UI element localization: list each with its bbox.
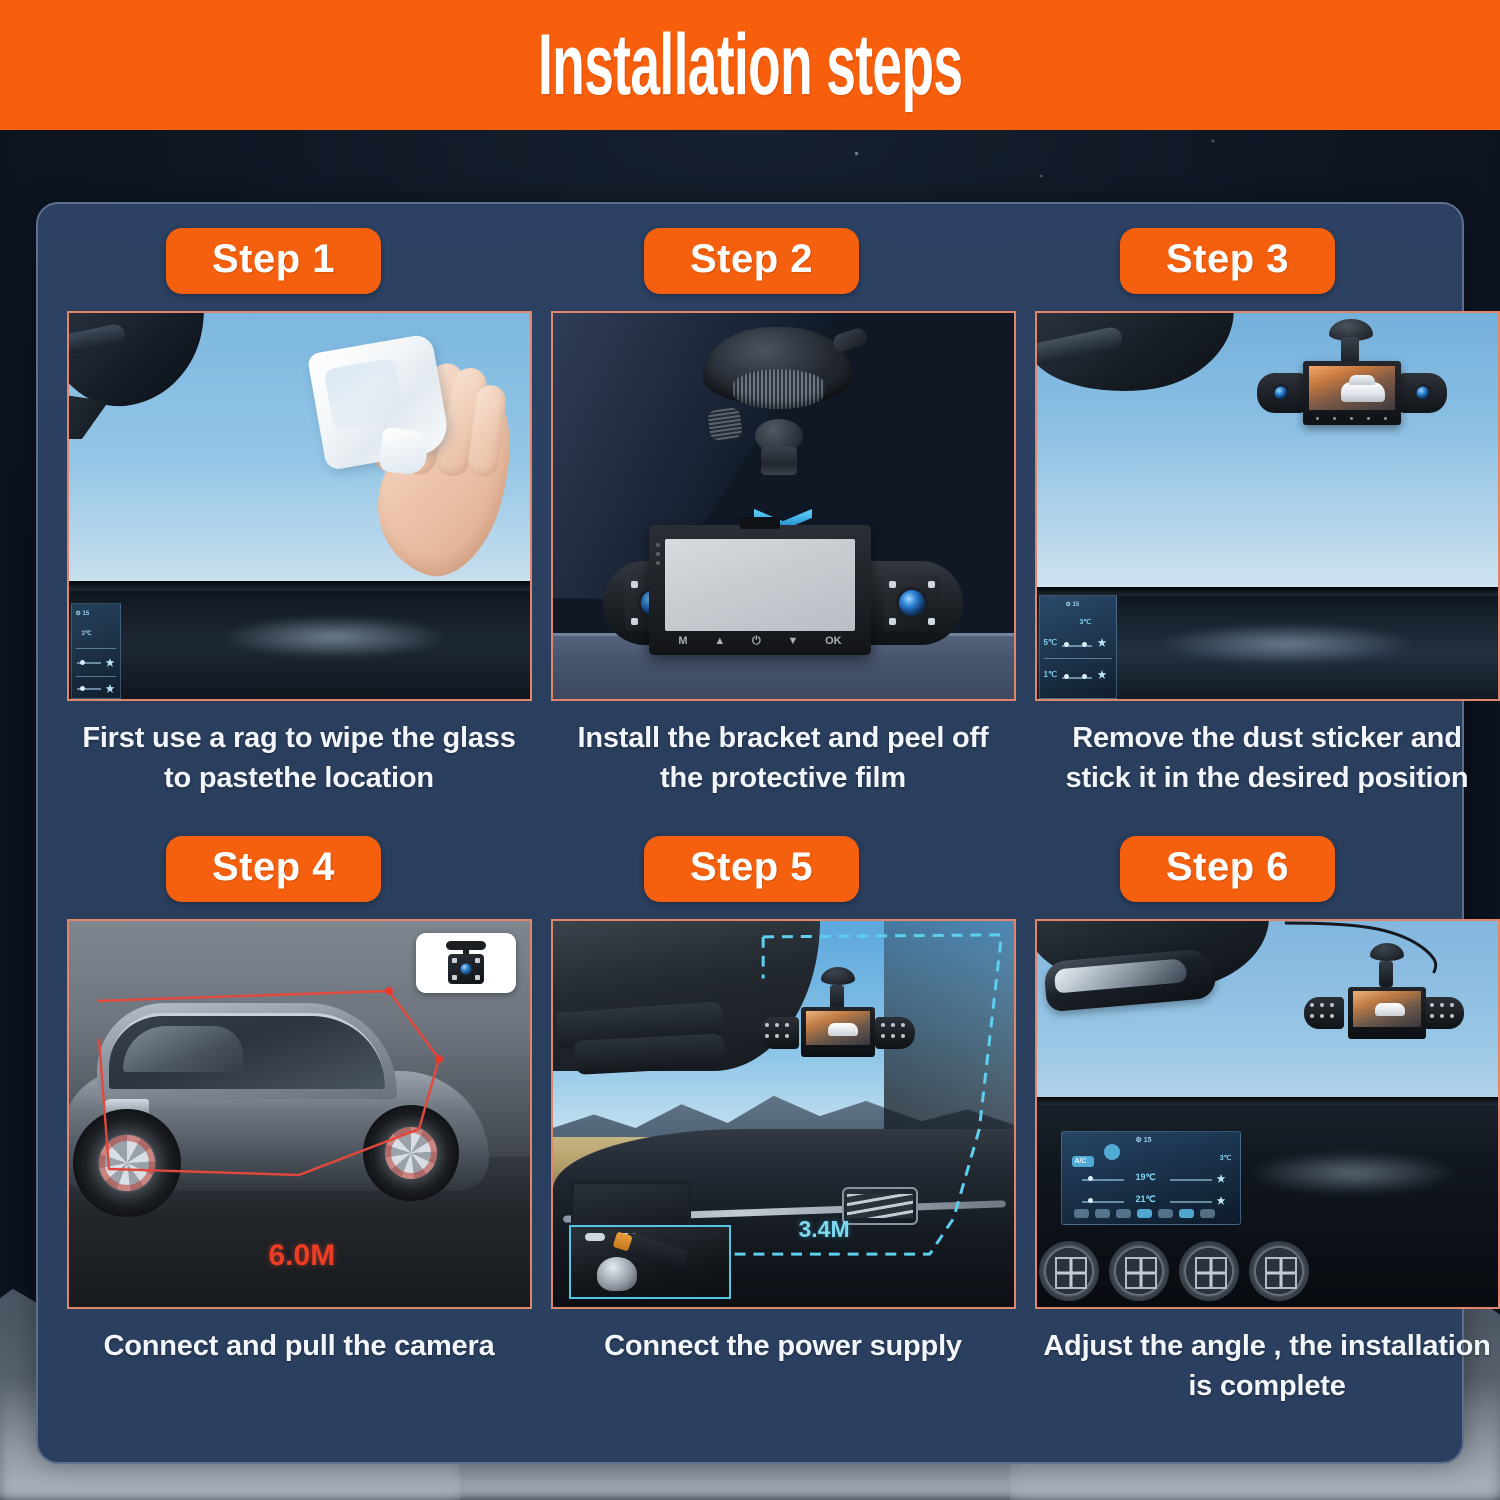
caption-line: Adjust the angle , the installation bbox=[1032, 1326, 1500, 1366]
camera-bracket bbox=[446, 941, 486, 950]
dashcam-screen-preview bbox=[1353, 991, 1421, 1027]
suction-cup-bracket bbox=[703, 327, 863, 487]
air-vent-row bbox=[1039, 1241, 1309, 1301]
rear-camera-inset bbox=[416, 933, 516, 993]
air-vent[interactable] bbox=[1109, 1241, 1169, 1301]
button-up[interactable]: ▲ bbox=[714, 635, 725, 647]
button-dot[interactable] bbox=[1333, 417, 1336, 420]
dashcam-right-camera-arm bbox=[1424, 997, 1464, 1029]
caption-line: to pastethe location bbox=[64, 758, 534, 798]
fan-icon bbox=[106, 684, 115, 693]
preview-car bbox=[1341, 382, 1385, 402]
step-badge-6: Step 6 bbox=[1120, 836, 1335, 902]
left-zone-temp: 5℃ bbox=[1044, 638, 1057, 647]
backdrop-speck bbox=[1040, 175, 1042, 177]
cable-route-path bbox=[89, 979, 459, 1203]
infotainment-status-icons: ⚙ 15 bbox=[76, 610, 90, 617]
temp-slider-track bbox=[1170, 1201, 1212, 1203]
button-mode[interactable]: M bbox=[678, 635, 687, 647]
temp-slider-knob[interactable] bbox=[1088, 1198, 1093, 1203]
step-image-1: ⚙ 15 3℃ bbox=[67, 311, 532, 701]
dashcam-body: M ▲ ⏻ ▼ OK bbox=[649, 525, 871, 655]
step-card-3: Step 3 bbox=[1032, 228, 1500, 832]
dashboard: ⚙ 15 3℃ 5℃ 1℃ bbox=[1037, 587, 1498, 699]
dashcam-right-camera-arm bbox=[1399, 373, 1447, 413]
ir-led-icon bbox=[889, 618, 896, 625]
bracket-slot bbox=[740, 517, 780, 529]
indicator-leds bbox=[656, 543, 660, 547]
outside-temp: 3℃ bbox=[1220, 1154, 1232, 1162]
defrost-rear-icon[interactable] bbox=[1095, 1209, 1110, 1218]
step-image-4: 6.0M bbox=[67, 919, 532, 1309]
ir-led-icon bbox=[631, 618, 638, 625]
button-dot[interactable] bbox=[1367, 417, 1370, 420]
infotainment-divider bbox=[76, 648, 116, 649]
infotainment-divider bbox=[76, 676, 116, 677]
infotainment-divider bbox=[1044, 658, 1112, 659]
hand-with-cloth bbox=[316, 343, 506, 593]
cable-length-label: 3.4M bbox=[799, 1216, 850, 1243]
step-caption-4: Connect and pull the camera bbox=[64, 1326, 534, 1366]
button-dot[interactable] bbox=[1384, 417, 1387, 420]
caption-line: stick it in the desired position bbox=[1032, 758, 1500, 798]
step-badge-1: Step 1 bbox=[166, 228, 381, 294]
ir-led-array bbox=[1310, 1003, 1338, 1023]
right-zone-temp: 1℃ bbox=[1044, 670, 1057, 679]
step-caption-6: Adjust the angle , the installation is c… bbox=[1032, 1326, 1500, 1406]
step-badge-3: Step 3 bbox=[1120, 228, 1335, 294]
camera-lens-icon bbox=[899, 590, 925, 616]
step-card-5: Step 5 bbox=[548, 836, 1018, 1440]
infotainment-outside-temp: 3℃ bbox=[82, 630, 92, 637]
camera-lens-icon bbox=[1416, 387, 1429, 400]
temp-slider-knob bbox=[1064, 674, 1069, 679]
step-caption-3: Remove the dust sticker and stick it in … bbox=[1032, 718, 1500, 798]
infotainment-screen: ⚙ 15 A/C 3℃ 19℃ 21℃ bbox=[1061, 1131, 1241, 1225]
caption-line: Install the bracket and peel off bbox=[548, 718, 1018, 758]
steps-grid: Step 1 ⚙ 15 3℃ bbox=[38, 204, 1462, 1462]
fan-icon bbox=[1098, 638, 1107, 647]
dashcam-body bbox=[1303, 361, 1401, 425]
backdrop-speck bbox=[855, 152, 858, 155]
dashcam-body bbox=[1348, 987, 1426, 1039]
fan-icon bbox=[106, 658, 115, 667]
dashcam-left-camera-arm bbox=[1257, 373, 1305, 413]
mount-arm bbox=[1379, 961, 1393, 987]
tighten-screw bbox=[707, 407, 743, 441]
step-image-5: 3.4M bbox=[551, 919, 1016, 1309]
temp-slider-knob bbox=[1082, 642, 1087, 647]
dashcam-button-row bbox=[1309, 413, 1395, 423]
rear-camera-icon bbox=[442, 941, 490, 985]
dashcam-device: M ▲ ⏻ ▼ OK bbox=[603, 525, 963, 663]
infotainment-screen-mini: ⚙ 15 3℃ bbox=[71, 603, 121, 699]
infotainment-screen-mini: ⚙ 15 3℃ 5℃ 1℃ bbox=[1039, 595, 1117, 699]
defrost-front-icon[interactable] bbox=[1074, 1209, 1089, 1218]
fan-icon bbox=[1098, 670, 1107, 679]
air-vent[interactable] bbox=[1039, 1241, 1099, 1301]
mounted-dashcam bbox=[1257, 335, 1447, 425]
outside-temp: 3℃ bbox=[1080, 618, 1092, 626]
step-card-4: Step 4 6.0M bbox=[64, 836, 534, 1440]
step-image-3: ⚙ 15 3℃ 5℃ 1℃ bbox=[1035, 311, 1500, 701]
air-vent[interactable] bbox=[1249, 1241, 1309, 1301]
temp-slider-knob bbox=[1082, 674, 1087, 679]
dashboard: ⚙ 15 A/C 3℃ 19℃ 21℃ bbox=[1037, 1097, 1498, 1307]
ir-led-icon bbox=[452, 958, 457, 963]
dashcam-screen-preview bbox=[1309, 366, 1395, 410]
infotainment-status-icons: ⚙ 15 bbox=[1136, 1136, 1152, 1144]
caption-line: First use a rag to wipe the glass bbox=[64, 718, 534, 758]
button-ok[interactable]: OK bbox=[825, 635, 842, 647]
mounted-dashcam bbox=[1304, 963, 1464, 1039]
page-title: Installation steps bbox=[538, 16, 962, 115]
dashboard-glare bbox=[1157, 623, 1417, 665]
caption-line: the protective film bbox=[548, 758, 1018, 798]
step-card-1: Step 1 ⚙ 15 3℃ bbox=[64, 228, 534, 832]
ir-led-icon bbox=[889, 581, 896, 588]
button-down[interactable]: ▼ bbox=[787, 635, 798, 647]
camera-lens-icon bbox=[460, 964, 471, 975]
backdrop-speck bbox=[1212, 140, 1214, 142]
step-caption-1: First use a rag to wipe the glass to pas… bbox=[64, 718, 534, 798]
ir-led-icon bbox=[452, 975, 457, 980]
page-header-banner: Installation steps bbox=[0, 0, 1500, 130]
cleaning-cloth-icon bbox=[306, 333, 451, 471]
dashcam-left-camera-arm bbox=[1304, 997, 1344, 1029]
temp-slider-track bbox=[1170, 1179, 1212, 1181]
auto-fan-icon[interactable] bbox=[1179, 1209, 1194, 1218]
ir-led-icon bbox=[631, 581, 638, 588]
ir-led-icon bbox=[928, 618, 935, 625]
caption-line: Connect the power supply bbox=[548, 1326, 1018, 1366]
step-image-6: ⚙ 15 A/C 3℃ 19℃ 21℃ bbox=[1035, 919, 1500, 1309]
caption-line: Connect and pull the camera bbox=[64, 1326, 534, 1366]
ir-led-array bbox=[1430, 1003, 1458, 1023]
cable-length-label: 6.0M bbox=[269, 1239, 336, 1273]
ir-led-icon bbox=[475, 975, 480, 980]
recirculate-icon[interactable] bbox=[1116, 1209, 1131, 1218]
step-badge-4: Step 4 bbox=[166, 836, 381, 902]
ir-led-icon bbox=[928, 581, 935, 588]
button-dot[interactable] bbox=[1350, 417, 1353, 420]
fan-icon[interactable] bbox=[1217, 1196, 1226, 1205]
dashcam-button-row: M ▲ ⏻ ▼ OK bbox=[665, 631, 855, 651]
off-icon[interactable] bbox=[1200, 1209, 1215, 1218]
dashboard-glare bbox=[1248, 1151, 1458, 1195]
dashboard-glare bbox=[219, 615, 449, 659]
passenger-temp: 21℃ bbox=[1136, 1194, 1156, 1205]
temp-slider-knob bbox=[80, 660, 85, 665]
temp-slider-knob[interactable] bbox=[1088, 1176, 1093, 1181]
dashcam-screen-protective-film bbox=[665, 539, 855, 631]
ac-label: A/C bbox=[1075, 1158, 1087, 1165]
temp-slider-knob bbox=[80, 686, 85, 691]
steps-panel: Step 1 ⚙ 15 3℃ bbox=[36, 202, 1464, 1464]
step-card-2: Step 2 bbox=[548, 228, 1018, 832]
camera-lens-icon bbox=[1274, 387, 1287, 400]
step-card-6: Step 6 bbox=[1032, 836, 1500, 1440]
air-vent[interactable] bbox=[1179, 1241, 1239, 1301]
step-badge-5: Step 5 bbox=[644, 836, 859, 902]
button-dot[interactable] bbox=[1316, 417, 1319, 420]
lens-housing bbox=[883, 575, 941, 631]
auto-mode-icon[interactable] bbox=[1104, 1144, 1120, 1160]
ir-led-icon bbox=[475, 958, 480, 963]
bracket-foot bbox=[761, 447, 797, 475]
step-badge-2: Step 2 bbox=[644, 228, 859, 294]
fan-icon[interactable] bbox=[1217, 1174, 1226, 1183]
suction-cup bbox=[1370, 943, 1404, 961]
infotainment-status-icons: ⚙ 15 bbox=[1066, 601, 1080, 608]
cable-route-overlay bbox=[89, 979, 459, 1203]
gear-shifter bbox=[597, 1257, 637, 1291]
camera-housing bbox=[448, 954, 484, 984]
airflow-face-icon[interactable] bbox=[1137, 1209, 1152, 1218]
console-button bbox=[585, 1233, 605, 1241]
step-caption-5: Connect the power supply bbox=[548, 1326, 1018, 1366]
caption-line: Remove the dust sticker and bbox=[1032, 718, 1500, 758]
button-power[interactable]: ⏻ bbox=[752, 635, 761, 648]
driver-temp: 19℃ bbox=[1136, 1172, 1156, 1183]
dashboard: ⚙ 15 3℃ bbox=[69, 581, 530, 699]
step-caption-2: Install the bracket and peel off the pro… bbox=[548, 718, 1018, 798]
temp-slider-knob bbox=[1064, 642, 1069, 647]
airflow-feet-icon[interactable] bbox=[1158, 1209, 1173, 1218]
caption-line: is complete bbox=[1032, 1366, 1500, 1406]
power-plug-inset bbox=[569, 1225, 731, 1299]
step-image-2: M ▲ ⏻ ▼ OK bbox=[551, 311, 1016, 701]
